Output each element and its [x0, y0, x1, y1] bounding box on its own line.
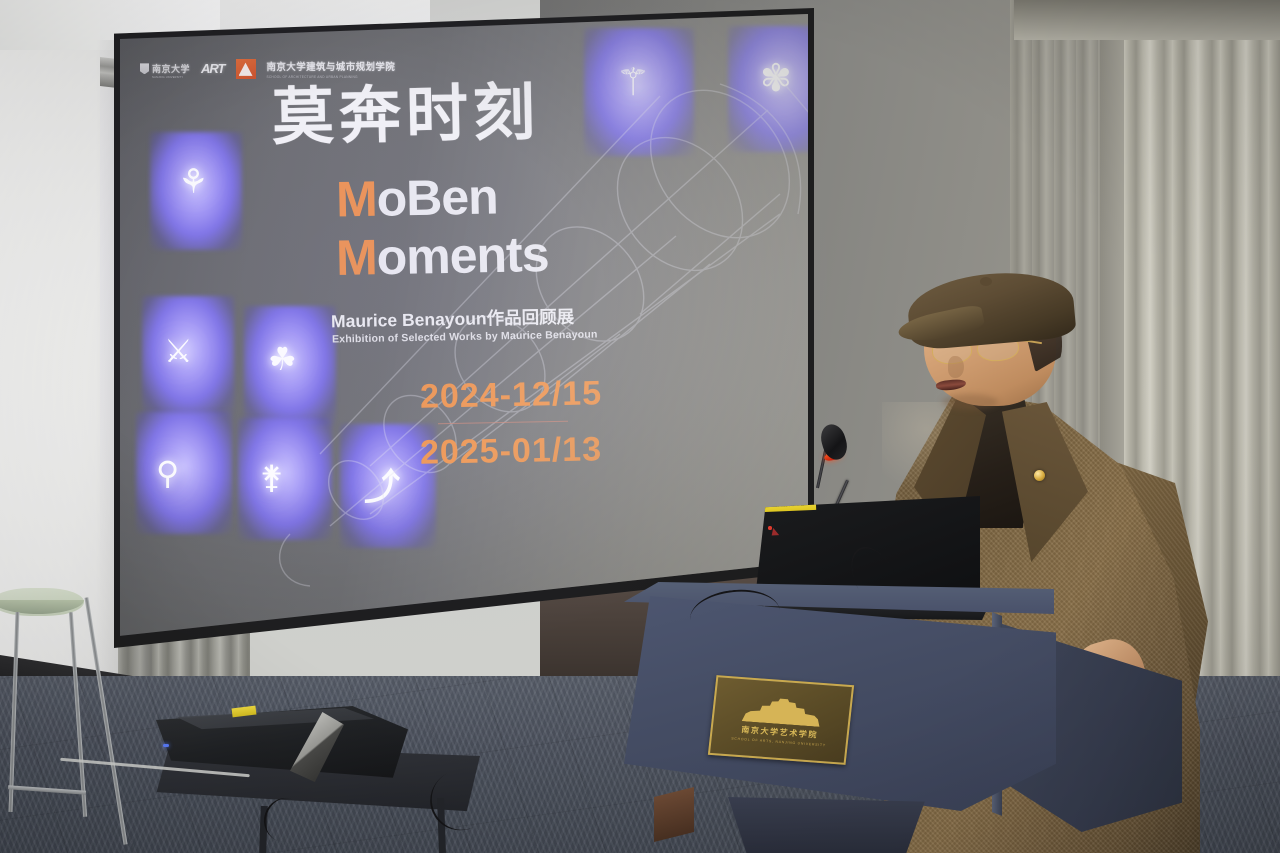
poster-title-accent-m1: M — [335, 171, 377, 228]
thinkpad-logo: ◣ — [772, 526, 779, 537]
nju-logo-mark — [140, 63, 149, 74]
poster-date-end: 2025-01/13 — [420, 430, 603, 472]
speaker-nose — [948, 356, 964, 378]
projection-screen: ⚘ ⚔ ☘ ⚲ ⚵ ⤴ ⚚ ✾ — [120, 14, 808, 639]
lectern-plaque: 南京大学艺术学院 SCHOOL OF ARTS, NANJING UNIVERS… — [708, 675, 854, 765]
lectern-front-panel: 南京大学艺术学院 SCHOOL OF ARTS, NANJING UNIVERS… — [624, 596, 1056, 811]
poster-title-rest2: oments — [376, 226, 549, 285]
lectern-base — [704, 797, 944, 853]
poster-title-en-line2: Moments — [336, 230, 549, 283]
poster-title-cn: 莫奔时刻 — [271, 81, 540, 148]
flat-cap-button — [980, 277, 992, 286]
poster-date-start: 2024-12/15 — [420, 374, 603, 416]
curtain-rail-right — [1014, 0, 1280, 40]
projector-power-led — [163, 744, 169, 747]
nju-logo-cn: 南京大学 — [152, 65, 190, 75]
lectern-wood-trim — [654, 787, 694, 842]
nju-logo: 南京大学 NANJING UNIVERSITY — [140, 59, 190, 80]
nju-logo-en: NANJING UNIVERSITY — [152, 77, 190, 80]
school-logo: 南京大学建筑与城市规划学院 SCHOOL OF ARCHITECTURE AND… — [267, 58, 396, 80]
school-logo-cn: 南京大学建筑与城市规划学院 — [267, 62, 396, 73]
poster-title-rest1: oBen — [376, 168, 498, 226]
photo-scene: ⚘ ⚔ ☘ ⚲ ⚵ ⤴ ⚚ ✾ — [0, 0, 1280, 853]
speaker-lapel-pin — [1034, 470, 1045, 481]
poster-title-accent-m2: M — [335, 229, 377, 286]
school-logo-triangle-icon — [239, 62, 253, 76]
art-logo: ART — [201, 61, 224, 76]
poster-title-en-line1: MoBen — [336, 172, 499, 224]
screen-logo-row: 南京大学 NANJING UNIVERSITY ART 南京大学建筑与城市规划学… — [140, 58, 395, 80]
school-logo-mark — [236, 59, 256, 79]
speaker-chin-shadow — [942, 394, 998, 410]
plaque-building-icon — [742, 693, 823, 727]
